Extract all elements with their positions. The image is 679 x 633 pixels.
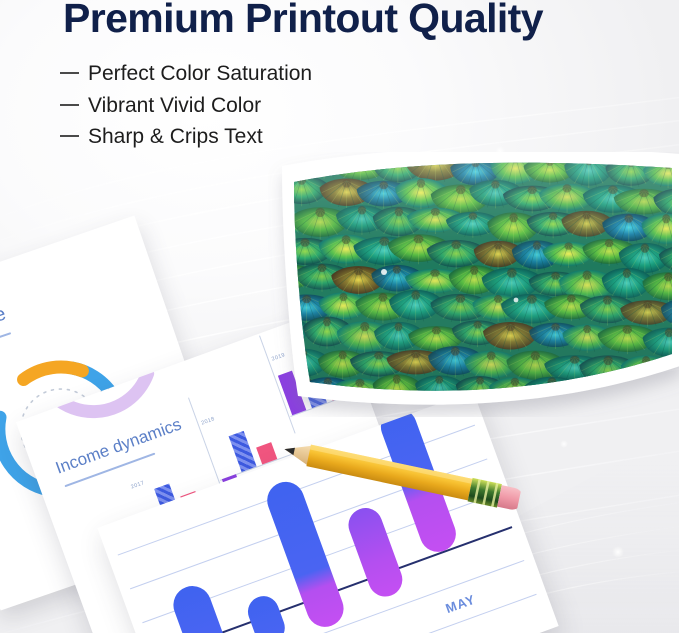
list-item: Sharp & Crips Text [60, 123, 480, 151]
rounded-bar-4 [344, 503, 407, 601]
feature-list: Perfect Color Saturation Vibrant Vivid C… [60, 60, 480, 155]
pencil-graphite [284, 446, 295, 455]
bokeh-dot [612, 546, 624, 558]
highlight-speck [514, 298, 519, 303]
list-item: Vibrant Vivid Color [60, 92, 480, 120]
feature-label: Sharp & Crips Text [88, 123, 263, 151]
dash-icon [60, 72, 79, 74]
feature-label: Perfect Color Saturation [88, 60, 312, 88]
month-label-may: MAY [444, 591, 478, 616]
pencil-wood [282, 440, 312, 465]
rounded-bar-2 [244, 592, 290, 633]
highlight-speck [381, 269, 387, 275]
photo-print [268, 152, 679, 417]
list-item: Perfect Color Saturation [60, 60, 480, 88]
page-title: Premium Printout Quality [63, 0, 663, 42]
peacock-feather-print [268, 152, 679, 417]
feature-label: Vibrant Vivid Color [88, 92, 261, 120]
dash-icon [60, 104, 79, 106]
bokeh-dot [560, 440, 568, 448]
product-banner: Premium Printout Quality Perfect Color S… [0, 0, 679, 633]
dash-icon [60, 135, 79, 137]
